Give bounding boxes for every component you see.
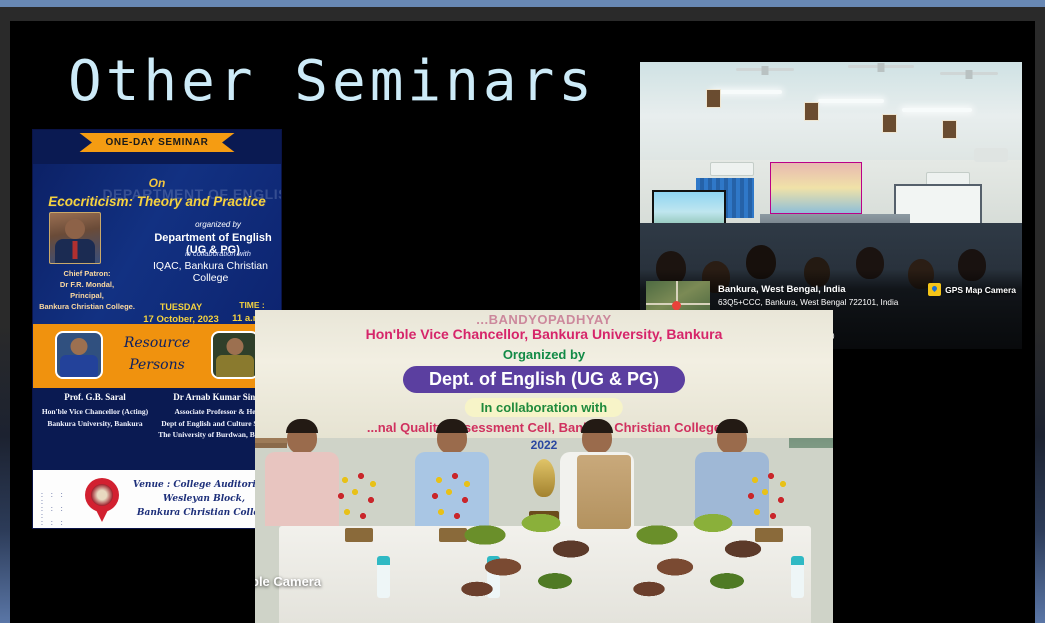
flower-arrangement-1	[333, 468, 385, 542]
banner-organized-by: Organized by	[255, 347, 833, 362]
dignitary-3-head	[582, 422, 612, 454]
screenshot-root: Other Seminars ONE-DAY SEMINAR DEPARTMEN…	[0, 0, 1045, 623]
venue-dots-left: : : : :: : : :: : : :: : : :	[41, 492, 71, 529]
resource-person-photo-1	[55, 331, 103, 379]
location-pin-icon	[85, 478, 119, 512]
rp1-shirt-shape	[60, 355, 98, 379]
poster-organized-by-label: organized by	[158, 220, 278, 229]
banner-designation: Hon'ble Vice Chancellor, Bankura Univers…	[255, 326, 833, 342]
tube-light-3	[902, 108, 972, 112]
air-conditioner-1	[710, 162, 754, 176]
rp2-head-shape	[227, 338, 244, 355]
dignitary-4-head	[717, 422, 747, 454]
gps-place: Bankura, West Bengal, India	[718, 284, 898, 296]
gps-app-name: GPS Map Camera	[945, 285, 1016, 295]
poster-collaboration-label: in collaboration with	[158, 249, 278, 258]
trophy-cup	[533, 459, 555, 497]
foreground-plant-1	[455, 501, 605, 623]
ceiling-fan-icon-3	[940, 72, 998, 75]
wall-portrait-2	[804, 102, 819, 121]
poster-resource-names: Prof. G.B. Saral Hon'ble Vice Chancellor…	[33, 388, 281, 470]
dignitary-4-hair	[716, 419, 748, 433]
poster-resource-band: Resource Persons	[33, 324, 281, 388]
dignitary-3-hair	[581, 419, 613, 433]
classroom-seminar-photo[interactable]: Google Bankura, West Bengal, India 63Q5+…	[640, 62, 1022, 349]
ceiling-fan-icon-2	[848, 65, 914, 68]
poster-collaborator: IQAC, Bankura Christian College	[138, 260, 281, 284]
banner-line-top: ...BANDYOPADHYAY	[255, 312, 833, 327]
banner-collaboration: In collaboration with	[465, 398, 623, 417]
foreground-plant-2	[627, 501, 777, 623]
patron-tie-shape	[73, 241, 78, 259]
poster-ribbon-area: ONE-DAY SEMINAR	[33, 130, 281, 164]
poster-main-panel: DEPARTMENT OF ENGLISH (UG & PG) On Ecocr…	[33, 164, 281, 324]
dignitary-1	[265, 422, 339, 526]
gps-map-camera-icon	[928, 283, 941, 296]
dignitary-2-hair	[436, 419, 468, 433]
window-accent-bar	[0, 0, 1045, 7]
dignitary-2-head	[437, 422, 467, 454]
dignitary-1-shirt	[265, 452, 339, 526]
wall-portrait-1	[706, 89, 721, 108]
rp2-shirt-shape	[216, 355, 254, 379]
poster-day: TUESDAY	[141, 302, 221, 312]
poster-time-label: TIME :	[221, 300, 281, 310]
dais-banner: ...BANDYOPADHYAY Hon'ble Vice Chancellor…	[255, 310, 833, 438]
dignitary-1-head	[287, 422, 317, 454]
tube-light-1	[712, 90, 782, 94]
page-title: Other Seminars	[68, 49, 596, 114]
flowers-1	[333, 470, 385, 528]
window-chrome-bar	[0, 7, 1045, 21]
banner-department: Dept. of English (UG & PG)	[403, 366, 685, 393]
patron-head-shape	[65, 219, 85, 239]
camera-watermark: ple Camera	[255, 574, 321, 589]
resource-person-1-details: Hon'ble Vice Chancellor (Acting) Bankura…	[33, 406, 157, 429]
ceiling-fan-icon-1	[736, 68, 794, 71]
presentation-slide: Other Seminars ONE-DAY SEMINAR DEPARTMEN…	[10, 21, 1035, 623]
poster-ribbon-label: ONE-DAY SEMINAR	[80, 133, 235, 152]
resource-person-photo-2	[211, 331, 259, 379]
dais-ceremony-photo[interactable]: ...BANDYOPADHYAY Hon'ble Vice Chancellor…	[255, 310, 833, 623]
poster-venue-band: : : : :: : : :: : : :: : : : Venue : Col…	[33, 470, 281, 529]
wall-portrait-3	[882, 114, 897, 133]
wall-portrait-4	[942, 120, 957, 139]
gps-map-camera-badge: GPS Map Camera	[928, 283, 1016, 296]
poster-chief-patron: Chief Patron: Dr F.R. Mondal, Principal,…	[33, 268, 141, 312]
seminar-poster-image[interactable]: ONE-DAY SEMINAR DEPARTMENT OF ENGLISH (U…	[32, 129, 282, 529]
poster-on-label: On	[149, 176, 166, 190]
tube-light-2	[818, 99, 884, 103]
rp1-head-shape	[71, 338, 88, 355]
dignitary-1-hair	[286, 419, 318, 433]
resource-persons-label: Resource Persons	[112, 332, 202, 376]
water-bottle-3	[791, 556, 804, 598]
chief-patron-photo	[49, 212, 101, 264]
classroom-stage-banner	[770, 162, 862, 214]
flower-base-1	[345, 528, 373, 542]
gps-address: 63Q5+CCC, Bankura, West Bengal 722101, I…	[718, 297, 898, 309]
pin-emblem	[91, 484, 113, 506]
poster-topic: Ecocriticism: Theory and Practice	[48, 194, 266, 209]
classroom-ceiling	[640, 62, 1022, 160]
water-bottle-1	[377, 556, 390, 598]
resource-person-1-name: Prof. G.B. Saral	[33, 392, 157, 402]
ceiling-projector	[974, 148, 1008, 162]
